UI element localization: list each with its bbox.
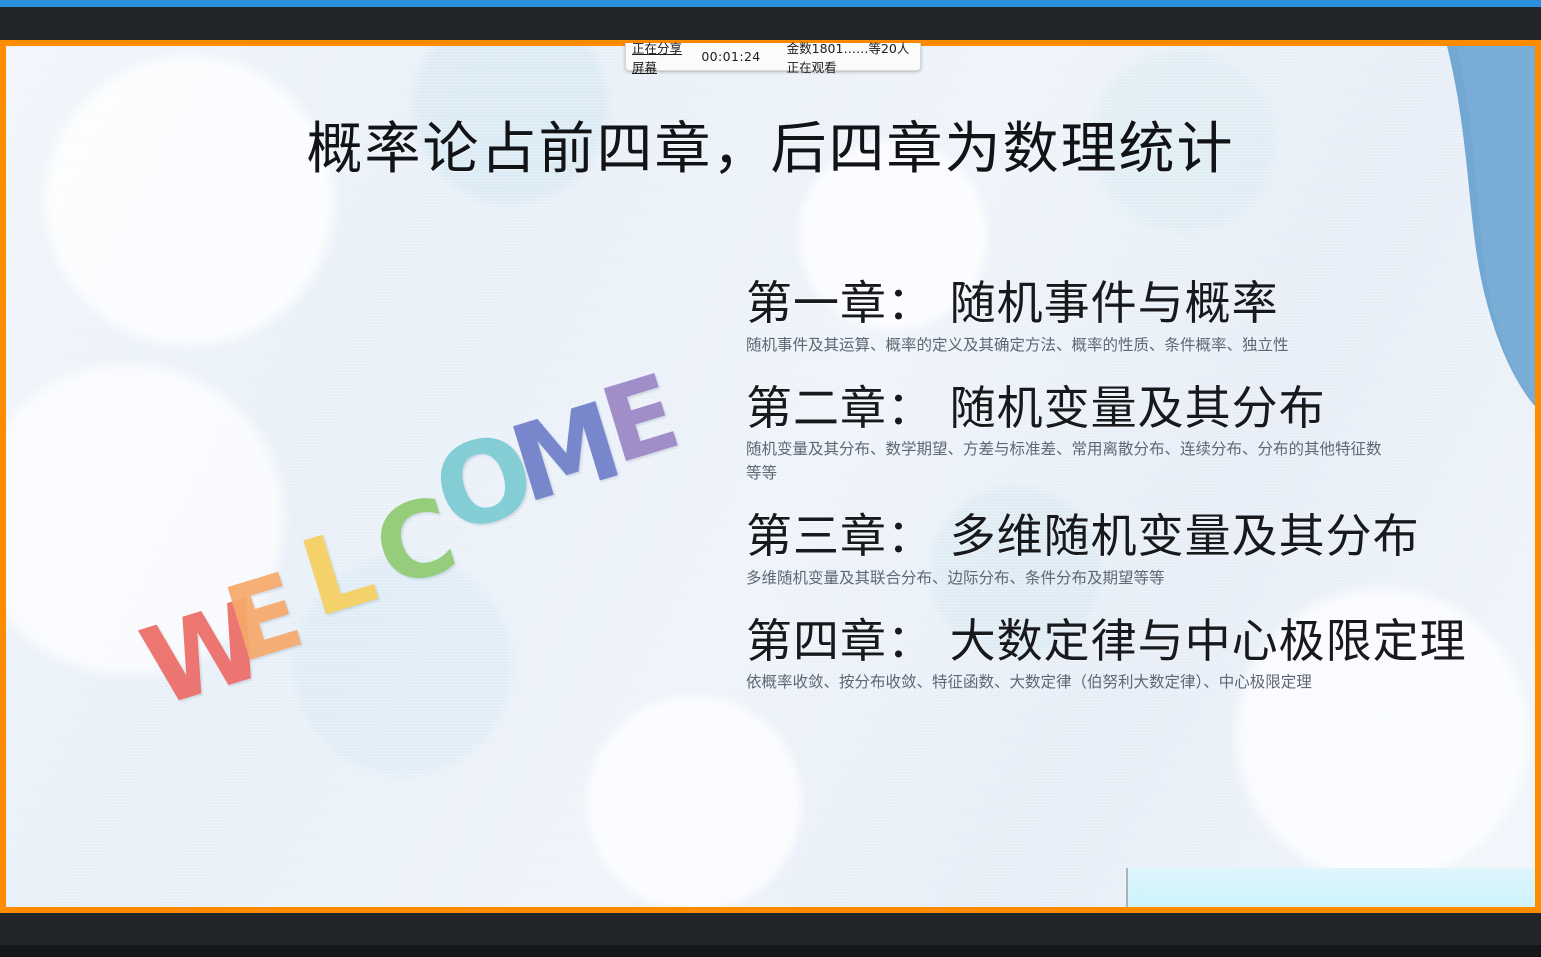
chapter-description: 随机事件及其运算、概率的定义及其确定方法、概率的性质、条件概率、独立性 <box>746 333 1386 357</box>
chapter-heading: 第三章： 多维随机变量及其分布 <box>746 511 1535 563</box>
chapter-description: 随机变量及其分布、数学期望、方差与标准差、常用离散分布、连续分布、分布的其他特征… <box>746 437 1386 485</box>
chapter-description: 依概率收敛、按分布收敛、特征函数、大数定律（伯努利大数定律）、中心极限定理 <box>746 670 1386 694</box>
chapter-heading: 第一章： 随机事件与概率 <box>746 278 1535 330</box>
chapter-heading: 第二章： 随机变量及其分布 <box>746 383 1535 435</box>
window-accent-strip <box>0 0 1541 7</box>
share-border-right <box>1535 40 1541 913</box>
chapter-item: 第一章： 随机事件与概率随机事件及其运算、概率的定义及其确定方法、概率的性质、条… <box>746 278 1535 357</box>
share-status-label[interactable]: 正在分享屏幕 <box>626 38 701 76</box>
chapter-description: 多维随机变量及其联合分布、边际分布、条件分布及期望等等 <box>746 566 1386 590</box>
chapter-item: 第二章： 随机变量及其分布随机变量及其分布、数学期望、方差与标准差、常用离散分布… <box>746 383 1535 486</box>
chapter-item: 第四章： 大数定律与中心极限定理依概率收敛、按分布收敛、特征函数、大数定律（伯努… <box>746 616 1535 695</box>
chapter-heading: 第四章： 大数定律与中心极限定理 <box>746 616 1535 668</box>
window-bottom-bar <box>0 913 1541 945</box>
share-status-viewers: 金数1801……等20人正在观看 <box>787 38 920 76</box>
chapter-item: 第三章： 多维随机变量及其分布多维随机变量及其联合分布、边际分布、条件分布及期望… <box>746 511 1535 590</box>
window-titlebar <box>0 7 1541 40</box>
cyan-panel-decoration <box>1126 868 1535 907</box>
window-bottom-edge <box>0 945 1541 957</box>
slide-title: 概率论占前四章，后四章为数理统计 <box>6 104 1535 185</box>
chapter-list: 第一章： 随机事件与概率随机事件及其运算、概率的定义及其确定方法、概率的性质、条… <box>746 278 1535 720</box>
share-status-bar[interactable]: 正在分享屏幕 00:01:24 金数1801……等20人正在观看 <box>625 43 921 71</box>
shared-screen-slide: 概率论占前四章，后四章为数理统计 WELCOME 第一章： 随机事件与概率随机事… <box>6 46 1535 907</box>
share-status-timer: 00:01:24 <box>701 49 786 64</box>
